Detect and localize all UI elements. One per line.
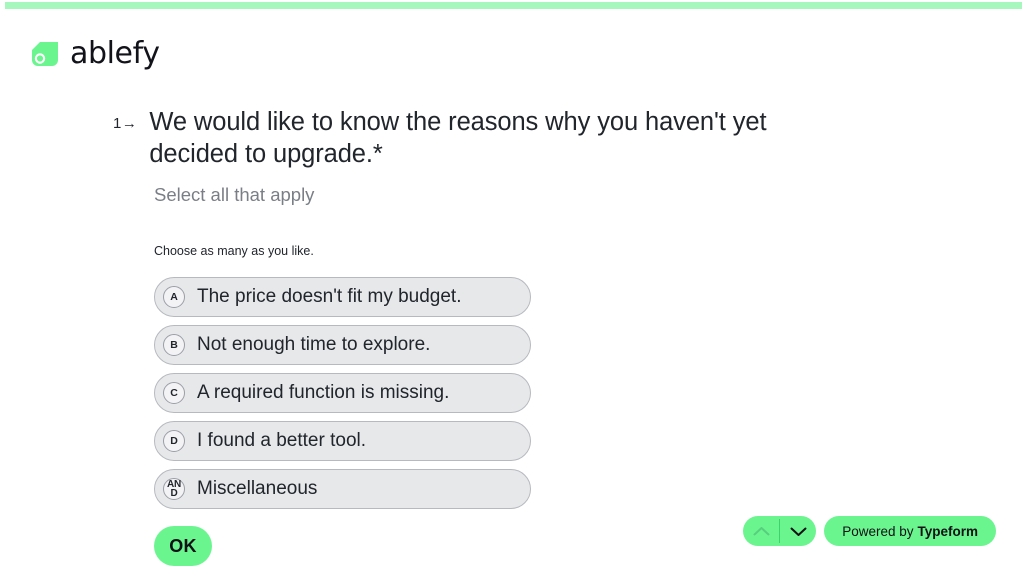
typeform-brand-label: Typeform — [917, 524, 978, 539]
choice-key-badge: D — [163, 430, 185, 452]
progress-bar-track — [5, 2, 1022, 9]
question-subtitle: Select all that apply — [154, 183, 873, 207]
choice-option-and[interactable]: AND Miscellaneous — [154, 469, 531, 509]
choice-label: Miscellaneous — [197, 478, 317, 500]
choice-label: Not enough time to explore. — [197, 334, 430, 356]
choice-option-a[interactable]: A The price doesn't fit my budget. — [154, 277, 531, 317]
choice-list: A The price doesn't fit my budget. B Not… — [154, 277, 554, 509]
choice-option-c[interactable]: C A required function is missing. — [154, 373, 531, 413]
choice-label: The price doesn't fit my budget. — [197, 286, 462, 308]
choice-key-badge: C — [163, 382, 185, 404]
arrow-right-icon: → — [122, 115, 138, 132]
bottom-right-controls: Powered by Typeform — [743, 516, 996, 546]
choice-label: I found a better tool. — [197, 430, 366, 452]
nav-previous-button[interactable] — [743, 516, 779, 546]
question-header: 1→ We would like to know the reasons why… — [113, 106, 873, 170]
choice-option-b[interactable]: B Not enough time to explore. — [154, 325, 531, 365]
question-number-value: 1 — [113, 115, 122, 132]
brand-logo: ablefy — [30, 36, 160, 72]
choice-key-badge: AND — [163, 478, 185, 500]
nav-next-button[interactable] — [780, 516, 816, 546]
choice-key-badge: B — [163, 334, 185, 356]
question-number: 1→ — [113, 106, 137, 131]
choice-area: Choose as many as you like. A The price … — [154, 243, 554, 509]
ok-submit-button[interactable]: OK — [154, 526, 212, 566]
choice-hint: Choose as many as you like. — [154, 243, 554, 259]
choice-label: A required function is missing. — [197, 382, 449, 404]
navigation-button-group — [743, 516, 816, 546]
choice-option-d[interactable]: D I found a better tool. — [154, 421, 531, 461]
powered-by-typeform-badge[interactable]: Powered by Typeform — [824, 516, 996, 546]
choice-key-badge: A — [163, 286, 185, 308]
question-block: 1→ We would like to know the reasons why… — [113, 106, 873, 207]
chevron-down-icon — [790, 526, 807, 537]
chevron-up-icon — [753, 526, 770, 537]
ablefy-logo-mark-icon — [30, 40, 60, 68]
brand-name: ablefy — [70, 39, 160, 69]
progress-bar-fill — [5, 2, 1022, 9]
question-title: We would like to know the reasons why yo… — [149, 106, 789, 170]
powered-by-prefix: Powered by — [842, 524, 913, 539]
